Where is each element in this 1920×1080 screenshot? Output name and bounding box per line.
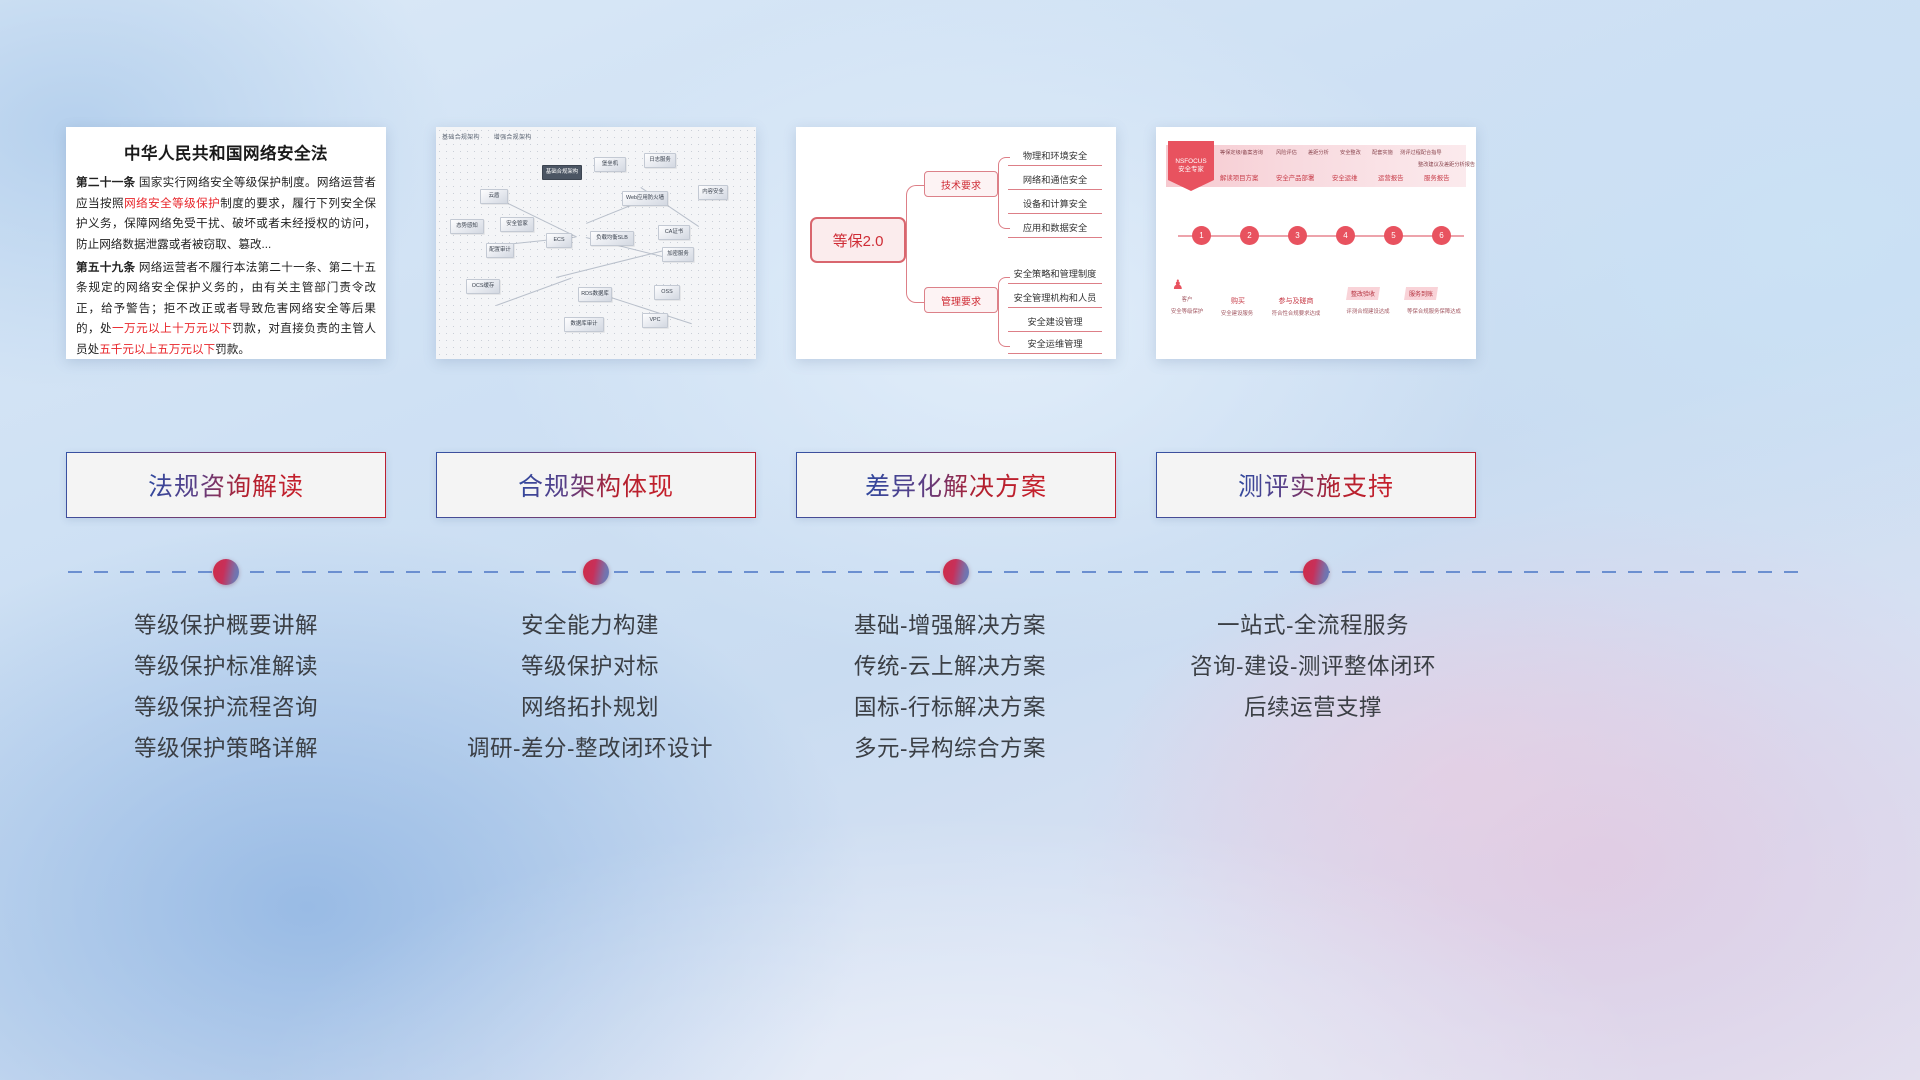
mindmap-root: 等保2.0 (810, 217, 906, 263)
architecture-diagram: 基础合规架构 增强合规架构 基础合规架构 云盾 态势感知 安全管家 配置审计 堡… (436, 127, 756, 359)
diagram-node: 负载均衡SLB (590, 231, 634, 246)
nsfocus-sub-label: 安全运维 (1332, 173, 1358, 182)
list-item: 安全能力构建 (420, 605, 760, 646)
header-box-legal-consulting[interactable]: 法规咨询解读 (66, 452, 386, 518)
lists-row: 等级保护概要讲解 等级保护标准解读 等级保护流程咨询 等级保护策略详解 安全能力… (0, 605, 1920, 805)
nsfocus-foot-tag: 购买 (1218, 297, 1258, 306)
card-law[interactable]: 中华人民共和国网络安全法 第二十一条 国家实行网络安全等级保护制度。网络运营者应… (66, 127, 386, 359)
law-title: 中华人民共和国网络安全法 (66, 140, 386, 164)
nsfocus-right-tag: 服务到账 (1404, 287, 1438, 300)
mindmap-leaf: 物理和环境安全 (1008, 151, 1102, 166)
list-compliance-architecture: 安全能力构建 等级保护对标 网络拓扑规划 调研-差分-整改闭环设计 (420, 605, 760, 769)
nsfocus-brand-line-2: 安全专家 (1178, 166, 1204, 174)
mindmap-branch-management: 管理要求 (924, 287, 998, 313)
nsfocus-sub-label: 运营报告 (1378, 173, 1404, 182)
list-item: 等级保护流程咨询 (56, 687, 396, 728)
nsfocus-sub-label: 安全产品部署 (1276, 173, 1314, 182)
diagram-tag-enhanced: 增强合规架构 (494, 135, 532, 141)
law-article-59: 第五十九条 网络运营者不履行本法第二十一条、第二十五条规定的网络安全保护义务的，… (76, 258, 376, 360)
nsfocus-sub-label: 服务报告 (1424, 173, 1450, 182)
mindmap: 等保2.0 技术要求 管理要求 物理和环境安全 网络和通信安全 设备和计算安全 … (796, 127, 1116, 359)
diagram-tag-basic: 基础合规架构 (442, 135, 480, 141)
nsfocus-axis (1178, 235, 1464, 237)
list-assessment-support: 一站式-全流程服务 咨询-建设-测评整体闭环 后续运营支撑 (1143, 605, 1483, 728)
list-item: 等级保护对标 (420, 646, 760, 687)
diagram-node: Web应用防火墙 (622, 191, 668, 206)
nsfocus-step: 5 (1384, 226, 1403, 245)
mindmap-leaf: 安全策略和管理制度 (1008, 269, 1102, 284)
diagram-node: RDS数据库 (578, 287, 612, 302)
diagram-node: OSS (654, 285, 680, 300)
diagram-node: OCS缓存 (466, 279, 500, 294)
nsfocus-step: 3 (1288, 226, 1307, 245)
timeline (0, 556, 1920, 588)
card-nsfocus-process[interactable]: NSFOCUS 安全专家 等保定级/备案咨询 风险评估 差距分析 安全整改 配套… (1156, 127, 1476, 359)
nsfocus-graphic: NSFOCUS 安全专家 等保定级/备案咨询 风险评估 差距分析 安全整改 配套… (1156, 127, 1476, 359)
header-box-assessment-support[interactable]: 测评实施支持 (1156, 452, 1476, 518)
law-article-59-highlight-1: 一万元以上十万元以下 (112, 322, 232, 335)
nsfocus-top-label: 差距分析 (1308, 149, 1329, 156)
nsfocus-brand-line-1: NSFOCUS (1175, 158, 1206, 166)
law-article-21: 第二十一条 国家实行网络安全等级保护制度。网络运营者应当按照网络安全等级保护制度… (76, 173, 376, 256)
nsfocus-top-label: 风险评估 (1276, 149, 1297, 156)
law-body: 第二十一条 国家实行网络安全等级保护制度。网络运营者应当按照网络安全等级保护制度… (66, 173, 386, 359)
diagram-node: 配置审计 (486, 243, 514, 258)
nsfocus-foot-tag-sub: 符合性合规要求达成 (1260, 311, 1332, 318)
list-item: 等级保护策略详解 (56, 728, 396, 769)
header-box-differentiated-solution[interactable]: 差异化解决方案 (796, 452, 1116, 518)
diagram-node: 日志服务 (644, 153, 676, 168)
diagram-node: 安全管家 (500, 217, 534, 232)
mindmap-leaf: 应用和数据安全 (1008, 223, 1102, 238)
nsfocus-top-label: 配套实施 (1372, 149, 1393, 156)
timeline-dot-1[interactable] (213, 559, 239, 585)
law-article-59-label: 第五十九条 (76, 261, 135, 274)
customer-icon: ♟ (1172, 277, 1184, 293)
nsfocus-step: 4 (1336, 226, 1355, 245)
timeline-dot-4[interactable] (1303, 559, 1329, 585)
diagram-node: VPC (642, 313, 668, 328)
header-label: 测评实施支持 (1238, 467, 1394, 503)
nsfocus-top-label: 等保定级/备案咨询 (1220, 149, 1263, 156)
diagram-node: 加密服务 (662, 247, 694, 262)
law-article-59-highlight-2: 五千元以上五万元以下 (99, 343, 215, 356)
diagram-node: CA证书 (658, 225, 690, 240)
mindmap-leaf: 安全建设管理 (1008, 317, 1102, 332)
list-item: 传统-云上解决方案 (780, 646, 1120, 687)
mindmap-leaf: 安全运维管理 (1008, 339, 1102, 354)
list-item: 一站式-全流程服务 (1143, 605, 1483, 646)
headers-row: 法规咨询解读 合规架构体现 差异化解决方案 测评实施支持 (0, 452, 1920, 518)
list-item: 等级保护标准解读 (56, 646, 396, 687)
nsfocus-sub-label: 解读项目方案 (1220, 173, 1258, 182)
diagram-node: 态势感知 (450, 219, 484, 234)
cards-row: 中华人民共和国网络安全法 第二十一条 国家实行网络安全等级保护制度。网络运营者应… (0, 127, 1920, 362)
header-label: 合规架构体现 (518, 467, 674, 503)
mindmap-branch-technical: 技术要求 (924, 171, 998, 197)
timeline-dot-3[interactable] (943, 559, 969, 585)
list-item: 后续运营支撑 (1143, 687, 1483, 728)
diagram-node-title: 基础合规架构 (542, 165, 582, 180)
timeline-dashed-line (68, 571, 1798, 573)
list-item: 基础-增强解决方案 (780, 605, 1120, 646)
nsfocus-step: 1 (1192, 226, 1211, 245)
nsfocus-right-tag-sub: 等保合规服务保障达成 (1396, 309, 1472, 316)
nsfocus-top-label: 安全整改 (1340, 149, 1361, 156)
diagram-node: 数据库审计 (564, 317, 604, 332)
diagram-node: 云盾 (480, 189, 508, 204)
mindmap-leaf: 安全管理机构和人员 (1008, 293, 1102, 308)
diagram-node: 内容安全 (698, 185, 728, 200)
law-article-21-highlight: 网络安全等级保护 (124, 197, 220, 210)
diagram-tags: 基础合规架构 增强合规架构 (442, 132, 544, 141)
header-box-compliance-architecture[interactable]: 合规架构体现 (436, 452, 756, 518)
nsfocus-foot-tag: 参与及磋商 (1266, 297, 1326, 306)
mindmap-leaf: 设备和计算安全 (1008, 199, 1102, 214)
diagram-node: ECS (546, 233, 572, 248)
nsfocus-top-label: 测评过程配合指导 (1400, 149, 1442, 156)
law-article-21-label: 第二十一条 (76, 176, 135, 189)
mindmap-leaf: 网络和通信安全 (1008, 175, 1102, 190)
header-label: 差异化解决方案 (865, 467, 1047, 503)
list-item: 网络拓扑规划 (420, 687, 760, 728)
diagram-node: 堡垒机 (594, 157, 626, 172)
list-differentiated-solution: 基础-增强解决方案 传统-云上解决方案 国标-行标解决方案 多元-异构综合方案 (780, 605, 1120, 769)
list-item: 调研-差分-整改闭环设计 (420, 728, 760, 769)
list-legal-consulting: 等级保护概要讲解 等级保护标准解读 等级保护流程咨询 等级保护策略详解 (56, 605, 396, 769)
card-mindmap[interactable]: 等保2.0 技术要求 管理要求 物理和环境安全 网络和通信安全 设备和计算安全 … (796, 127, 1116, 359)
nsfocus-right-tag: 整改验收 (1346, 287, 1380, 300)
nsfocus-right-tag-sub: 评测合规建设达成 (1332, 309, 1404, 316)
timeline-dot-2[interactable] (583, 559, 609, 585)
list-item: 等级保护概要讲解 (56, 605, 396, 646)
nsfocus-step: 6 (1432, 226, 1451, 245)
nsfocus-step: 2 (1240, 226, 1259, 245)
header-label: 法规咨询解读 (148, 467, 304, 503)
nsfocus-person-label: 客户 (1164, 297, 1210, 304)
card-architecture[interactable]: 基础合规架构 增强合规架构 基础合规架构 云盾 态势感知 安全管家 配置审计 堡… (436, 127, 756, 359)
nsfocus-foot-tag-sub: 安全建设服务 (1206, 311, 1268, 318)
list-item: 咨询-建设-测评整体闭环 (1143, 646, 1483, 687)
list-item: 多元-异构综合方案 (780, 728, 1120, 769)
list-item: 国标-行标解决方案 (780, 687, 1120, 728)
law-article-59-text-c: 罚款。 (215, 343, 250, 356)
nsfocus-top-label: 整改建议及差距分析报告 (1418, 161, 1475, 168)
